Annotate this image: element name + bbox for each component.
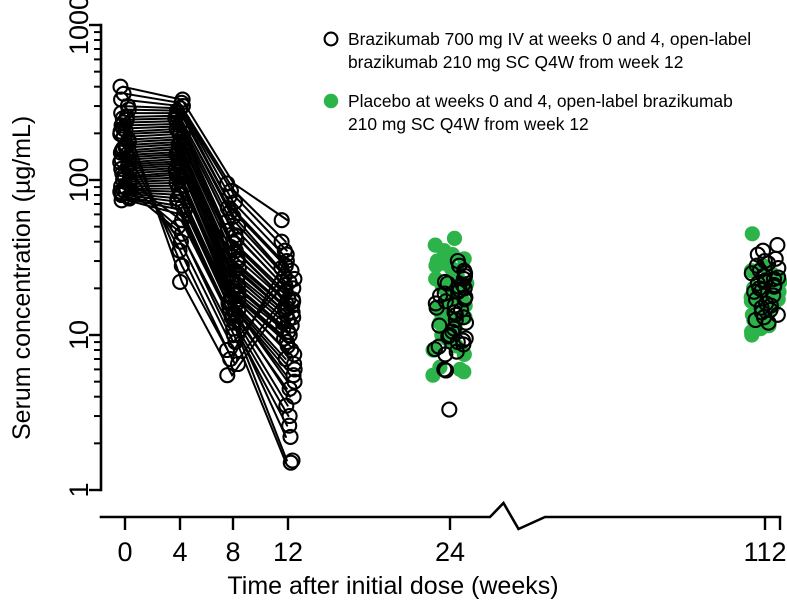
data-point-brazikumab: [442, 403, 456, 417]
legend-marker-brazikumab: [325, 33, 338, 46]
legend-label-brazikumab-line2: brazikumab 210 mg SC Q4W from week 12: [348, 52, 683, 72]
legend: Brazikumab 700 mg IV at weeks 0 and 4, o…: [324, 29, 751, 134]
data-point-placebo: [428, 258, 443, 273]
x-axis-title: Time after initial dose (weeks): [227, 572, 558, 600]
figure-root: 11010010000481224112 Serum concentration…: [0, 0, 787, 606]
y-tick-label: 1: [64, 482, 94, 497]
legend-label-brazikumab-line1: Brazikumab 700 mg IV at weeks 0 and 4, o…: [348, 29, 751, 49]
y-tick-label: 100: [64, 157, 94, 202]
data-point-brazikumab: [770, 238, 784, 252]
legend-marker-placebo: [324, 94, 338, 108]
y-tick-label: 1000: [64, 0, 94, 55]
chart-svg: 11010010000481224112 Serum concentration…: [0, 0, 787, 606]
legend-label-placebo-line2: 210 mg SC Q4W from week 12: [348, 114, 589, 134]
legend-label-placebo-line1: Placebo at weeks 0 and 4, open-label bra…: [348, 91, 733, 111]
x-axis-line: [101, 503, 780, 529]
x-tick-label: 24: [435, 537, 465, 567]
y-tick-label: 10: [64, 320, 94, 350]
x-tick-label: 8: [225, 537, 240, 567]
data-point-placebo: [744, 327, 759, 342]
data-point-placebo: [745, 226, 760, 241]
data-point-placebo: [447, 231, 462, 246]
x-tick-label: 4: [172, 537, 187, 567]
data-point-placebo: [456, 364, 471, 379]
x-tick-label: 12: [273, 537, 303, 567]
y-axis-title: Serum concentration (µg/mL): [8, 116, 36, 440]
x-tick-label: 0: [117, 537, 132, 567]
x-tick-label: 112: [743, 537, 786, 567]
data-layer: [113, 80, 787, 470]
